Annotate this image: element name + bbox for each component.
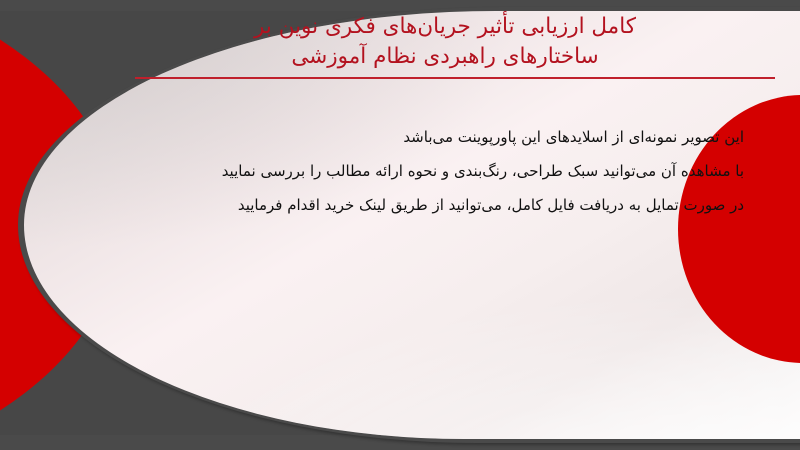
slide-content-panel	[24, 11, 800, 439]
slide-title: کامل ارزیابی تأثیر جریان‌های فکری نوین ب…	[150, 12, 740, 72]
slide-body-text: این تصویر نمونه‌ای از اسلایدهای این پاور…	[150, 120, 744, 222]
body-paragraph-2: با مشاهده آن می‌توانید سبک طراحی، رنگ‌بن…	[150, 154, 744, 188]
slide-title-line-1: کامل ارزیابی تأثیر جریان‌های فکری نوین ب…	[150, 12, 740, 42]
body-paragraph-1: این تصویر نمونه‌ای از اسلایدهای این پاور…	[150, 120, 744, 154]
title-underline-rule	[135, 77, 775, 79]
slide-title-line-2: ساختارهای راهبردی نظام آموزشی	[150, 42, 740, 72]
presentation-slide: کامل ارزیابی تأثیر جریان‌های فکری نوین ب…	[0, 0, 800, 450]
body-paragraph-3: در صورت تمایل به دریافت فایل کامل، می‌تو…	[150, 188, 744, 222]
